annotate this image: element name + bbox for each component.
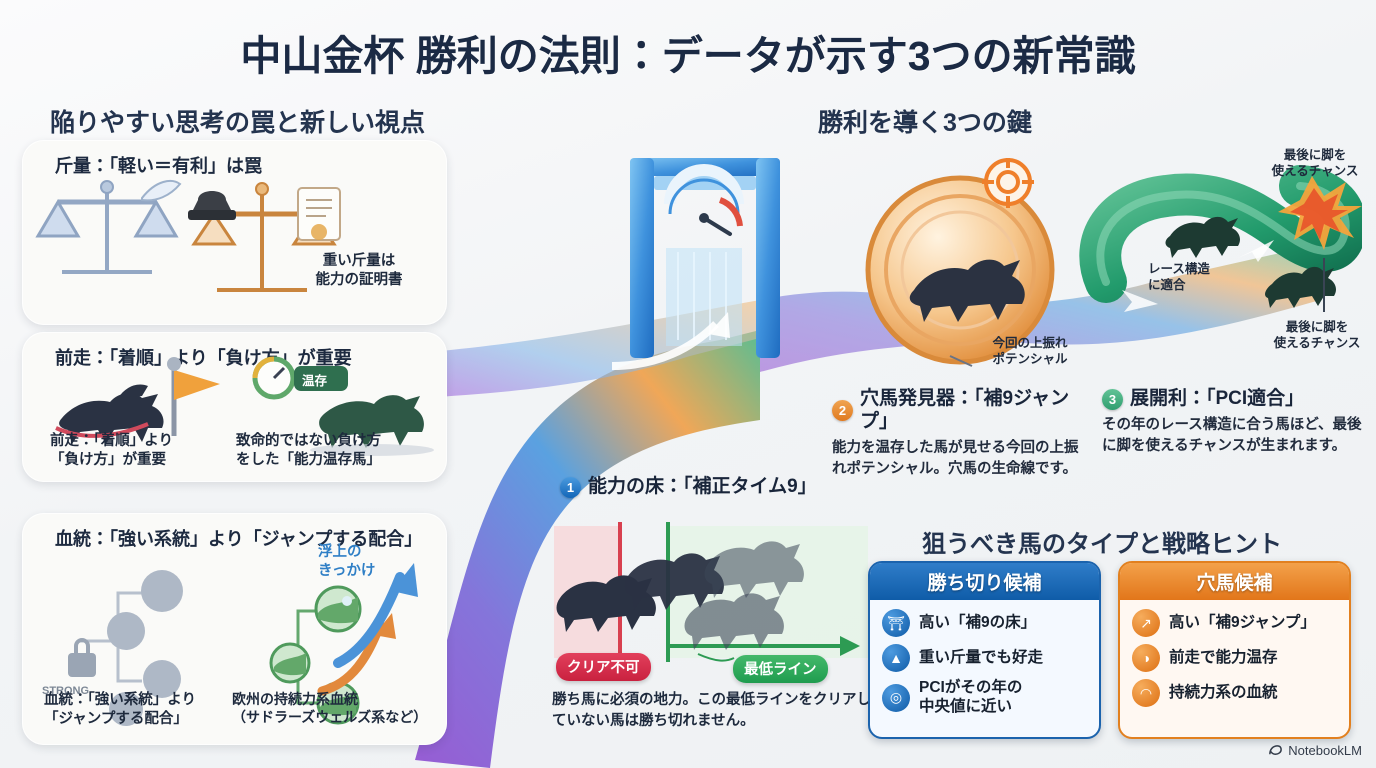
key-item-1-number: 1 bbox=[560, 477, 581, 498]
key3-annotation-top: 最後に脚を 使えるチャンス bbox=[1255, 148, 1375, 179]
key-item-3-title: 3 展開利：「PCI適合」 bbox=[1102, 388, 1364, 411]
key-item-3: 3 展開利：「PCI適合」 その年のレース構造に合う馬ほど、最後に脚を使えるチャ… bbox=[1102, 388, 1364, 457]
list-item: ▲ 重い斤量でも好走 bbox=[882, 644, 1089, 672]
section-heading-left: 陥りやすい思考の罠と新しい視点 bbox=[50, 103, 425, 139]
section-heading-keys: 勝利を導く3つの鍵 bbox=[818, 103, 1032, 139]
key3-annotation-bottom: 最後に脚を 使えるチャンス bbox=[1258, 320, 1376, 351]
track-horse-icon-2 bbox=[1265, 267, 1336, 308]
type-card-longshot: 穴馬候補 ↗ 高い「補9ジャンプ」 ◑ 前走で能力温存 ◠ 持続力系の血統 bbox=[1118, 561, 1351, 739]
type-card-longshot-list: ↗ 高い「補9ジャンプ」 ◑ 前走で能力温存 ◠ 持続力系の血統 bbox=[1120, 600, 1349, 707]
list-item: ◠ 持続力系の血統 bbox=[1132, 679, 1339, 707]
list-item: ◑ 前走で能力温存 bbox=[1132, 644, 1339, 672]
trend-up-icon: ↗ bbox=[1132, 609, 1160, 637]
feather-icon bbox=[142, 181, 180, 200]
certificate-icon bbox=[298, 188, 340, 240]
key-item-2-body: 能力を温存した馬が見せる今回の上振れポテンシャル。穴馬の生命線です。 bbox=[832, 438, 1090, 480]
page-title: 中山金杯 勝利の法則：データが示す3つの新常識 bbox=[0, 22, 1376, 82]
badge-threshold: 最低ライン bbox=[733, 655, 828, 683]
key-item-1-title: 1 能力の床：「補正タイム9」 bbox=[560, 476, 860, 499]
track-horse-icon-1 bbox=[1166, 217, 1241, 258]
list-item: ◎ PCIがその年の 中央値に近い bbox=[882, 679, 1089, 716]
left-card-weight-caption: 重い斤量は 能力の証明書 bbox=[284, 252, 434, 289]
key-item-3-number: 3 bbox=[1102, 389, 1123, 410]
key-item-3-body: その年のレース構造に合う馬ほど、最後に脚を使えるチャンスが生まれます。 bbox=[1102, 415, 1364, 457]
key-item-1-note: 勝ち馬に必須の地力。この最低ラインをクリアしていない馬は勝ち切れません。 bbox=[552, 690, 882, 731]
type-card-winner-list: ⛩ 高い「補9の床」 ▲ 重い斤量でも好走 ◎ PCIがその年の 中央値に近い bbox=[870, 600, 1099, 716]
left-card-lastrace: 前走：「着順」より「負け方」が重要 bbox=[22, 332, 447, 482]
infographic-canvas: 中山金杯 勝利の法則：データが示す3つの新常識 陥りやすい思考の罠と新しい視点 … bbox=[0, 0, 1376, 768]
lock-icon bbox=[68, 640, 96, 677]
badge-fail: クリア不可 bbox=[556, 653, 651, 681]
key-item-1: 1 能力の床：「補正タイム9」 bbox=[560, 476, 860, 499]
list-item: ↗ 高い「補9ジャンプ」 bbox=[1132, 609, 1339, 637]
left-card-weight-title: 斤量：「軽い＝有利」は罠 bbox=[55, 152, 262, 178]
notebooklm-logo-icon bbox=[1268, 743, 1283, 758]
left-card-pedigree-annotation: 浮上の きっかけ bbox=[318, 543, 438, 580]
up-arrow-icon bbox=[322, 563, 418, 691]
landscape-icon: ◠ bbox=[1132, 679, 1160, 707]
oval-track-icon: ◎ bbox=[882, 684, 910, 712]
gate-icon: ⛩ bbox=[882, 609, 910, 637]
key-item-2-title: 2 穴馬発見器：「補9ジャンプ」 bbox=[832, 388, 1090, 434]
type-card-longshot-heading: 穴馬候補 bbox=[1120, 563, 1349, 600]
left-card-weight: 斤量：「軽い＝有利」は罠 bbox=[22, 140, 447, 325]
weight-icon: ▲ bbox=[882, 644, 910, 672]
section-heading-types: 狙うべき馬のタイプと戦略ヒント bbox=[922, 524, 1282, 559]
starting-gate-graphic bbox=[612, 152, 802, 382]
left-card-lastrace-title: 前走：「着順」より「負け方」が重要 bbox=[55, 344, 352, 370]
left-card-lastrace-caption-left: 前走：「着順」より 「負け方」が重要 bbox=[50, 432, 230, 469]
balance-scale-feather-icon bbox=[38, 181, 176, 272]
gauge-icon: ◑ bbox=[1132, 644, 1160, 672]
left-card-pedigree-caption-right: 欧州の持続力系血統 （サドラーズウェルズ系など） bbox=[232, 691, 444, 727]
watermark-label: NotebookLM bbox=[1288, 743, 1362, 758]
left-card-pedigree-caption-left: 血統：「強い系統」より 「ジャンプする配合」 bbox=[44, 691, 229, 728]
type-card-winner-heading: 勝ち切り候補 bbox=[870, 563, 1099, 600]
type-card-winner: 勝ち切り候補 ⛩ 高い「補9の床」 ▲ 重い斤量でも好走 ◎ PCIがその年の … bbox=[868, 561, 1101, 739]
key-item-2: 2 穴馬発見器：「補9ジャンプ」 能力を温存した馬が見せる今回の上振れポテンシャ… bbox=[832, 388, 1090, 480]
weight-block-icon bbox=[188, 191, 236, 220]
onzon-badge-label: 温存 bbox=[302, 370, 327, 389]
floor-threshold-chart bbox=[548, 520, 888, 670]
key-item-2-number: 2 bbox=[832, 400, 853, 421]
left-card-pedigree: 血統：「強い系統」より「ジャンプする配合」 bbox=[22, 513, 447, 745]
watermark: NotebookLM bbox=[1268, 743, 1362, 758]
key3-annotation-mid: レース構造 に適合 bbox=[1148, 262, 1248, 293]
list-item: ⛩ 高い「補9の床」 bbox=[882, 609, 1089, 637]
left-card-lastrace-caption-right: 致命的ではない負け方 をした「能力温存馬」 bbox=[236, 432, 436, 469]
